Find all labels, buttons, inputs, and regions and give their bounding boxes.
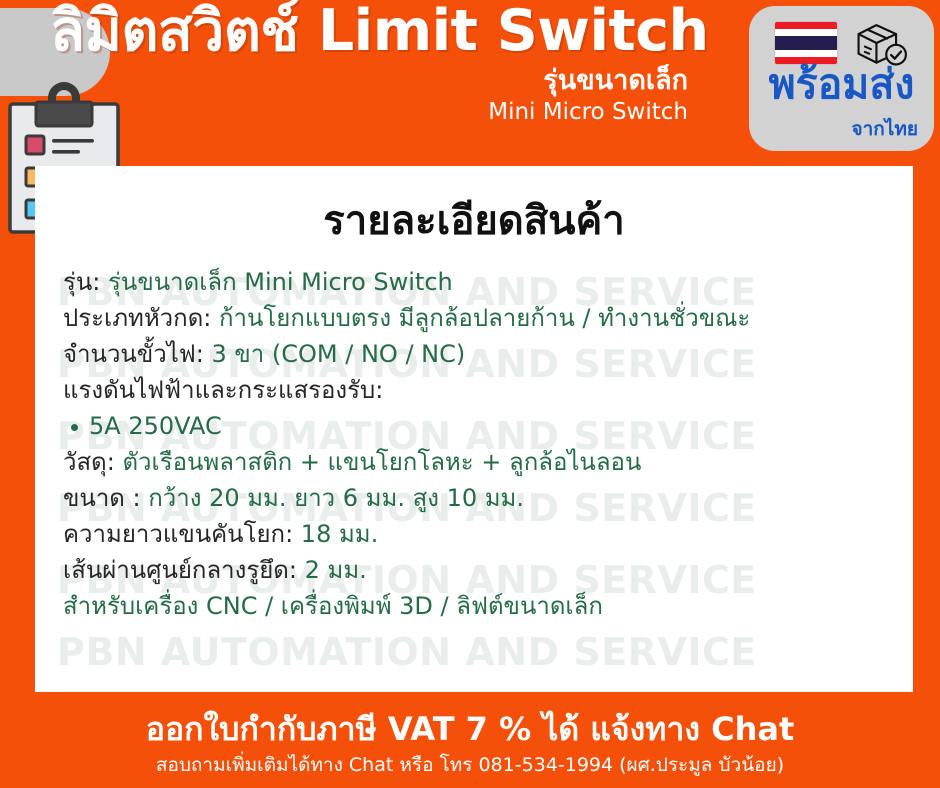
header: ลิมิตสวิตช์ Limit Switch รุ่นขนาดเล็ก Mi… <box>0 0 940 166</box>
watermark: PBN AUTOMATION AND SERVICE <box>57 630 757 674</box>
details-card: PBN AUTOMATION AND SERVICE PBN AUTOMATIO… <box>35 166 913 692</box>
ready-to-ship-badge: พร้อมส่ง จากไทย <box>749 6 934 151</box>
spec-row: วัสดุ: ตัวเรือนพลาสติก + แขนโยกโลหะ + ลู… <box>63 444 893 480</box>
spec-row: รุ่น: รุ่นขนาดเล็ก Mini Micro Switch <box>63 264 893 300</box>
footer-line-1: ออกใบกำกับภาษี VAT 7 % ได้ แจ้งทาง Chat <box>0 704 940 755</box>
spec-row: ประเภทหัวกด: ก้านโยกแบบตรง มีลูกล้อปลายก… <box>63 300 893 336</box>
spec-label: ขนาด : <box>63 484 141 512</box>
title-block: ลิมิตสวิตช์ Limit Switch <box>50 2 750 62</box>
spec-label: จำนวนขั้วไฟ: <box>63 340 204 368</box>
spec-row: จำนวนขั้วไฟ: 3 ขา (COM / NO / NC) <box>63 336 893 372</box>
badge-sub-text: จากไทย <box>749 114 934 144</box>
spec-value: 3 ขา (COM / NO / NC) <box>212 340 466 368</box>
spec-closing-line: สำหรับเครื่อง CNC / เครื่องพิมพ์ 3D / ลิ… <box>63 588 893 624</box>
spec-value: 2 มม. <box>305 556 367 584</box>
spec-value: กว้าง 20 มม. ยาว 6 มม. สูง 10 มม. <box>148 484 524 512</box>
spec-value: 18 มม. <box>301 520 378 548</box>
product-info-banner: ลิมิตสวิตช์ Limit Switch รุ่นขนาดเล็ก Mi… <box>0 0 940 788</box>
spec-row: ความยาวแขนคันโยก: 18 มม. <box>63 516 893 552</box>
spec-row: ขนาด : กว้าง 20 มม. ยาว 6 มม. สูง 10 มม. <box>63 480 893 516</box>
spec-row: เส้นผ่านศูนย์กลางรูยึด: 2 มม. <box>63 552 893 588</box>
spec-label: ความยาวแขนคันโยก: <box>63 520 293 548</box>
footer: ออกใบกำกับภาษี VAT 7 % ได้ แจ้งทาง Chat … <box>0 692 940 788</box>
spec-label: เส้นผ่านศูนย์กลางรูยึด: <box>63 556 297 584</box>
footer-line-2: สอบถามเพิ่มเติมได้ทาง Chat หรือ โทร 081-… <box>0 750 940 780</box>
spec-value: ก้านโยกแบบตรง มีลูกล้อปลายก้าน / ทำงานชั… <box>219 304 750 332</box>
thai-flag-icon <box>775 22 837 64</box>
spec-bullet-item: 5A 250VAC <box>63 408 893 444</box>
spec-row: แรงดันไฟฟ้าและกระแสรองรับ: <box>63 372 893 408</box>
card-title: รายละเอียดสินค้า <box>35 188 913 252</box>
spec-list: รุ่น: รุ่นขนาดเล็ก Mini Micro Switch ประ… <box>63 264 893 624</box>
spec-value: รุ่นขนาดเล็ก Mini Micro Switch <box>108 268 453 296</box>
spec-label: วัสดุ: <box>63 448 115 476</box>
spec-label: แรงดันไฟฟ้าและกระแสรองรับ: <box>63 376 383 404</box>
spec-value: ตัวเรือนพลาสติก + แขนโยกโลหะ + ลูกล้อไนล… <box>122 448 641 476</box>
spec-label: ประเภทหัวกด: <box>63 304 211 332</box>
page-title: ลิมิตสวิตช์ Limit Switch <box>50 2 750 62</box>
spec-label: รุ่น: <box>63 268 100 296</box>
badge-main-text: พร้อมส่ง <box>749 64 934 105</box>
